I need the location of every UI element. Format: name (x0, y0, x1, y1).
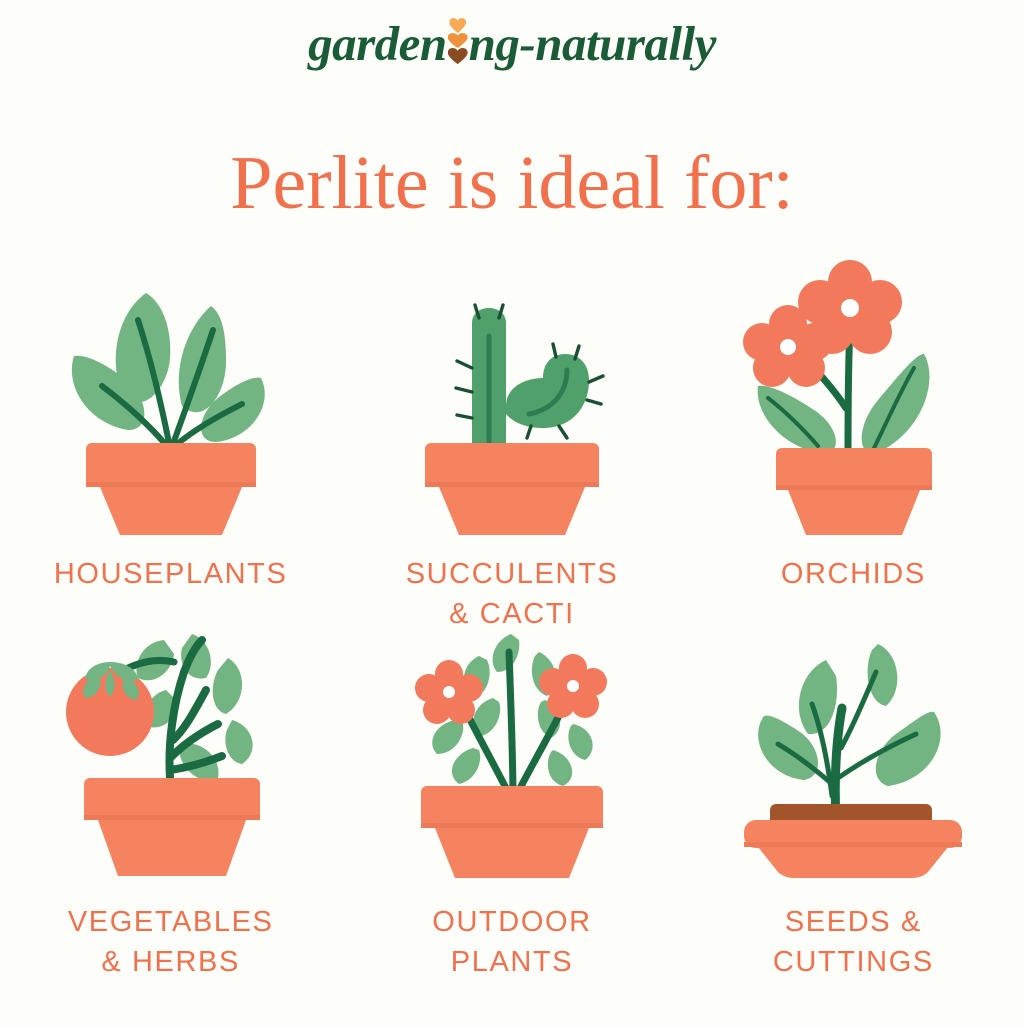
benefit-grid: HOUSEPLANTS (0, 258, 1024, 1026)
seedling-tray-icon (723, 628, 983, 880)
houseplant-icon (41, 258, 301, 538)
brand-name-part-two: ng-naturally (469, 16, 716, 71)
caption-houseplants: HOUSEPLANTS (54, 554, 288, 594)
caption-orchids: ORCHIDS (781, 554, 926, 594)
grid-item-vegetables-herbs: VEGETABLES & HERBS (0, 628, 341, 988)
caption-seeds-cuttings: SEEDS & CUTTINGS (773, 902, 934, 982)
grid-item-houseplants: HOUSEPLANTS (0, 258, 341, 628)
grid-item-orchids: ORCHIDS (683, 258, 1024, 628)
caption-outdoor-plants: OUTDOOR PLANTS (432, 902, 591, 982)
tomato-plant-icon (41, 628, 301, 880)
heart-middle-icon (448, 33, 468, 48)
heart-top-icon (449, 18, 466, 33)
grid-item-succulents-cacti: SUCCULENTS & CACTI (341, 258, 682, 628)
heart-bottom-icon (448, 48, 468, 64)
orchid-icon (723, 258, 983, 538)
brand-logo: gardenng-naturally (0, 8, 1024, 80)
infographic-canvas: gardenng-naturally Perlite is ideal for: (0, 0, 1024, 1026)
sprout-heart-stack-icon (447, 18, 469, 70)
cactus-icon (382, 258, 642, 538)
page-title: Perlite is ideal for: (0, 135, 1024, 231)
caption-succulents-cacti: SUCCULENTS & CACTI (406, 554, 619, 634)
grid-item-seeds-cuttings: SEEDS & CUTTINGS (683, 628, 1024, 988)
brand-name-part-one: garden (308, 16, 447, 71)
brand-logo-wordmark: gardenng-naturally (308, 8, 716, 80)
grid-item-outdoor-plants: OUTDOOR PLANTS (341, 628, 682, 988)
flowering-plant-icon (382, 628, 642, 880)
caption-vegetables-herbs: VEGETABLES & HERBS (68, 902, 274, 982)
